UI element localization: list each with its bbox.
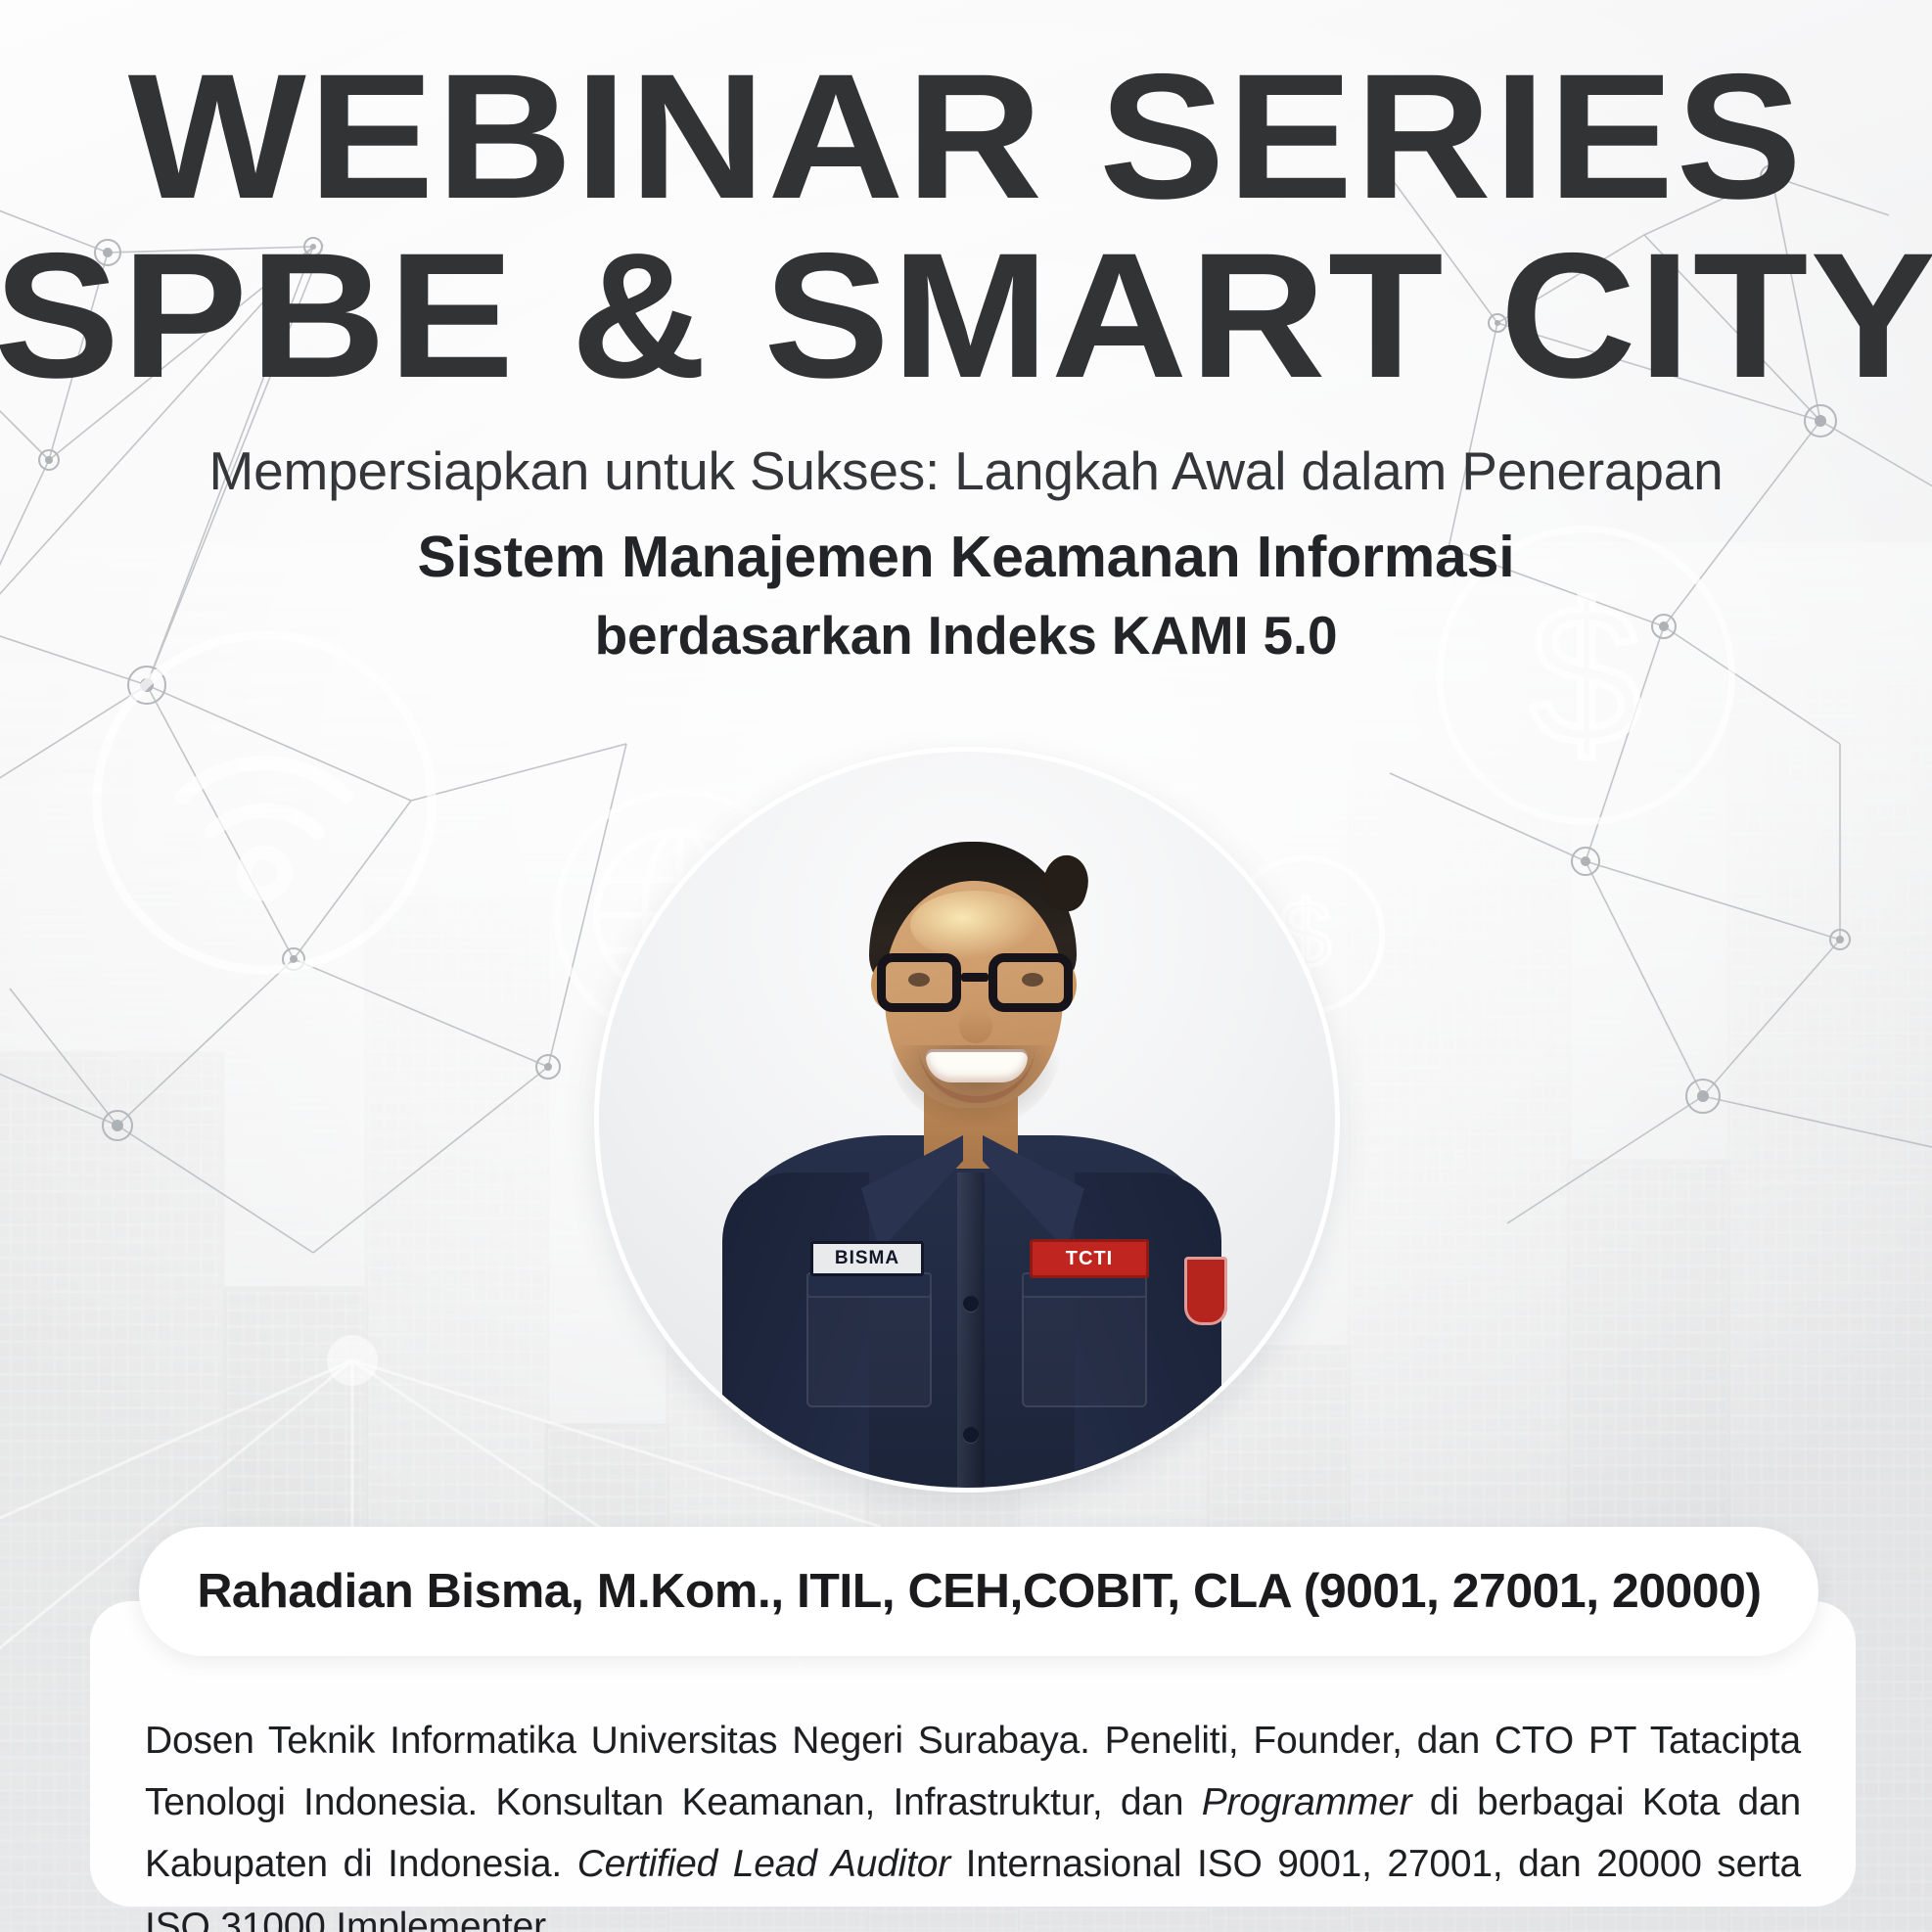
- nose: [959, 1008, 992, 1043]
- speaker-name-credentials: Rahadian Bisma, M.Kom., ITIL, CEH,COBIT,…: [197, 1564, 1761, 1619]
- company-logo-patch: TCTI: [1030, 1239, 1149, 1278]
- shirt-button: [963, 1296, 979, 1311]
- subtitle-line-3: berdasarkan Indeks KAMI 5.0: [0, 604, 1932, 667]
- speaker-portrait-illustration: BISMA TCTI: [599, 752, 1335, 1488]
- speaker-bio-text: Dosen Teknik Informatika Universitas Neg…: [145, 1710, 1801, 1932]
- subtitle-line-2: Sistem Manajemen Keamanan Informasi: [0, 524, 1932, 590]
- title-line-1: WEBINAR SERIES: [0, 0, 1932, 222]
- glasses-bridge: [961, 973, 989, 982]
- eyeglasses-icon: [877, 953, 1073, 1014]
- title-line-2: SPBE & SMART CITY: [0, 222, 1932, 401]
- bio-italic-certified-lead-auditor: Certified Lead Auditor: [577, 1843, 950, 1885]
- lens-right: [989, 953, 1073, 1012]
- speaker-photo: BISMA TCTI: [599, 752, 1335, 1488]
- webinar-poster: $ $ WEBINAR SERIES SPBE & SMART CITY Mem…: [0, 0, 1932, 1932]
- lens-left: [877, 953, 961, 1012]
- face-highlight: [910, 891, 1039, 959]
- name-tag: BISMA: [810, 1241, 924, 1276]
- subtitle-line-1: Mempersiapkan untuk Sukses: Langkah Awal…: [0, 439, 1932, 502]
- shirt-pocket-left: [806, 1288, 932, 1407]
- shirt-pocket-right: [1022, 1288, 1147, 1407]
- arm-patch: [1184, 1257, 1227, 1325]
- bio-italic-programmer: Programmer: [1202, 1781, 1412, 1823]
- poster-header: WEBINAR SERIES SPBE & SMART CITY Mempers…: [0, 0, 1932, 667]
- speaker-name-banner: Rahadian Bisma, M.Kom., ITIL, CEH,COBIT,…: [139, 1527, 1818, 1656]
- wifi-icon: [88, 626, 440, 979]
- shirt-button: [963, 1427, 979, 1443]
